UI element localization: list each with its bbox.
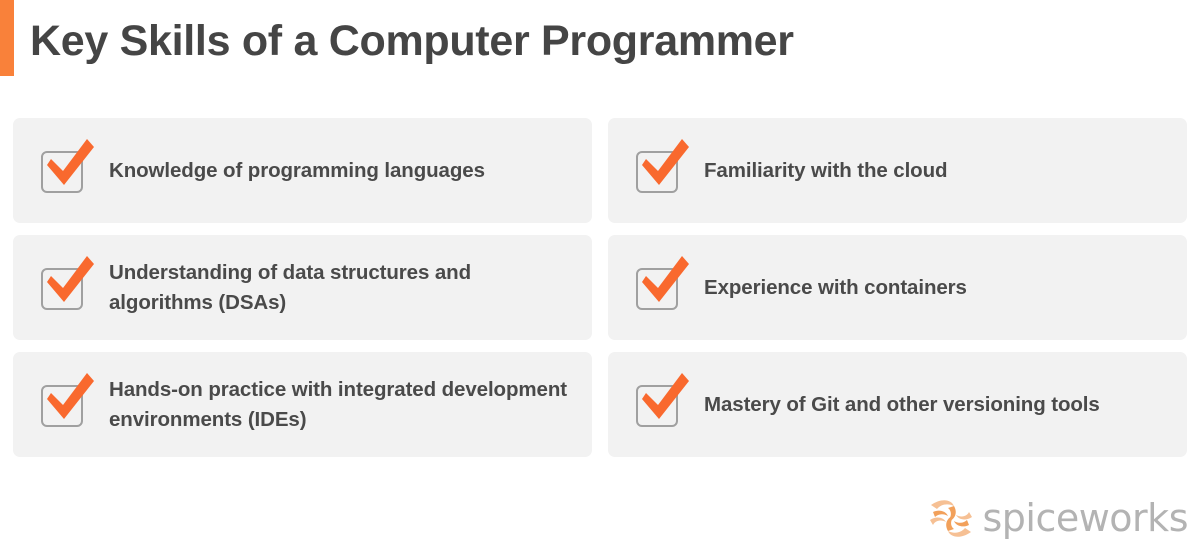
page-header: Key Skills of a Computer Programmer [0,0,1200,100]
checkbox-outline [636,268,678,310]
spiceworks-wordmark: spiceworks [982,499,1188,537]
skill-label: Knowledge of programming languages [109,156,485,186]
checkbox-outline [41,151,83,193]
spiceworks-logo[interactable]: spiceworks [927,495,1188,541]
checkbox-checked-icon [636,383,680,427]
skill-card-cloud-familiarity[interactable]: Familiarity with the cloud [608,118,1187,223]
checkbox-outline [41,385,83,427]
skill-card-git-versioning[interactable]: Mastery of Git and other versioning tool… [608,352,1187,457]
skill-card-containers[interactable]: Experience with containers [608,235,1187,340]
checkbox-checked-icon [636,149,680,193]
page-title: Key Skills of a Computer Programmer [30,17,794,66]
skills-grid: Knowledge of programming languages Famil… [13,118,1187,457]
skill-label: Familiarity with the cloud [704,156,947,186]
checkbox-outline [636,151,678,193]
skill-label: Mastery of Git and other versioning tool… [704,390,1100,420]
skill-card-ides[interactable]: Hands-on practice with integrated develo… [13,352,592,457]
skill-card-programming-languages[interactable]: Knowledge of programming languages [13,118,592,223]
checkbox-checked-icon [636,266,680,310]
skill-label: Experience with containers [704,273,967,303]
accent-bar [0,0,14,76]
spiceworks-pinwheel-icon [927,496,975,540]
skill-label: Hands-on practice with integrated develo… [109,375,574,434]
checkbox-outline [41,268,83,310]
skill-card-data-structures[interactable]: Understanding of data structures and alg… [13,235,592,340]
checkbox-checked-icon [41,266,85,310]
checkbox-outline [636,385,678,427]
checkbox-checked-icon [41,149,85,193]
checkbox-checked-icon [41,383,85,427]
skill-label: Understanding of data structures and alg… [109,258,574,317]
